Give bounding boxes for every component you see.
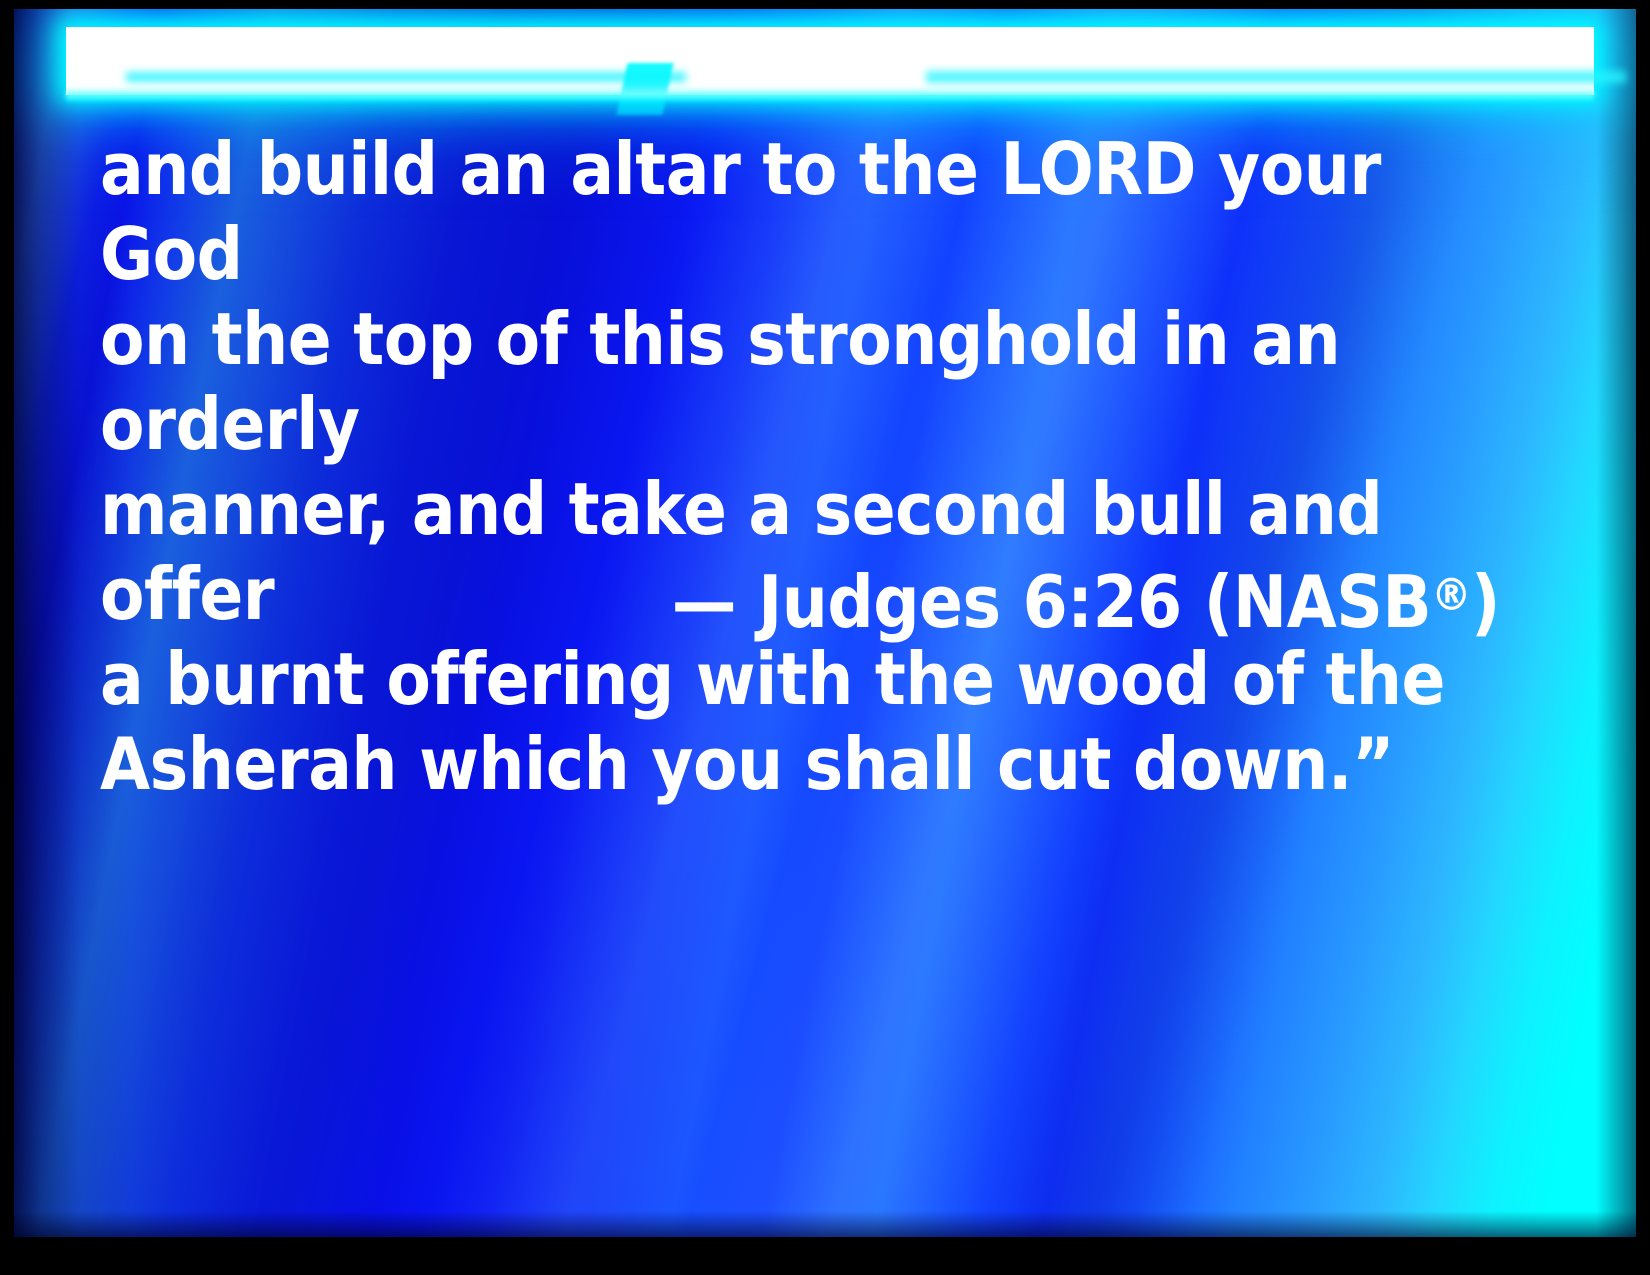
attribution-suffix: ) bbox=[1471, 560, 1500, 644]
background-bottom-vignette bbox=[14, 1211, 1636, 1237]
verse-text: and build an altar to the LORD your God … bbox=[100, 127, 1520, 807]
background-right-vignette bbox=[1596, 9, 1636, 1237]
verse-slide: and build an altar to the LORD your God … bbox=[0, 0, 1650, 1275]
slide-panel: and build an altar to the LORD your God … bbox=[14, 9, 1636, 1237]
header-cyan-wisp-right bbox=[926, 71, 1626, 83]
header-cyan-wisp-left bbox=[126, 72, 686, 82]
verse-attribution: — Judges 6:26 (NASB®) bbox=[100, 553, 1500, 645]
registered-trademark-icon: ® bbox=[1431, 569, 1471, 621]
header-glow-band bbox=[66, 27, 1594, 95]
attribution-prefix: — Judges 6:26 (NASB bbox=[672, 560, 1431, 644]
